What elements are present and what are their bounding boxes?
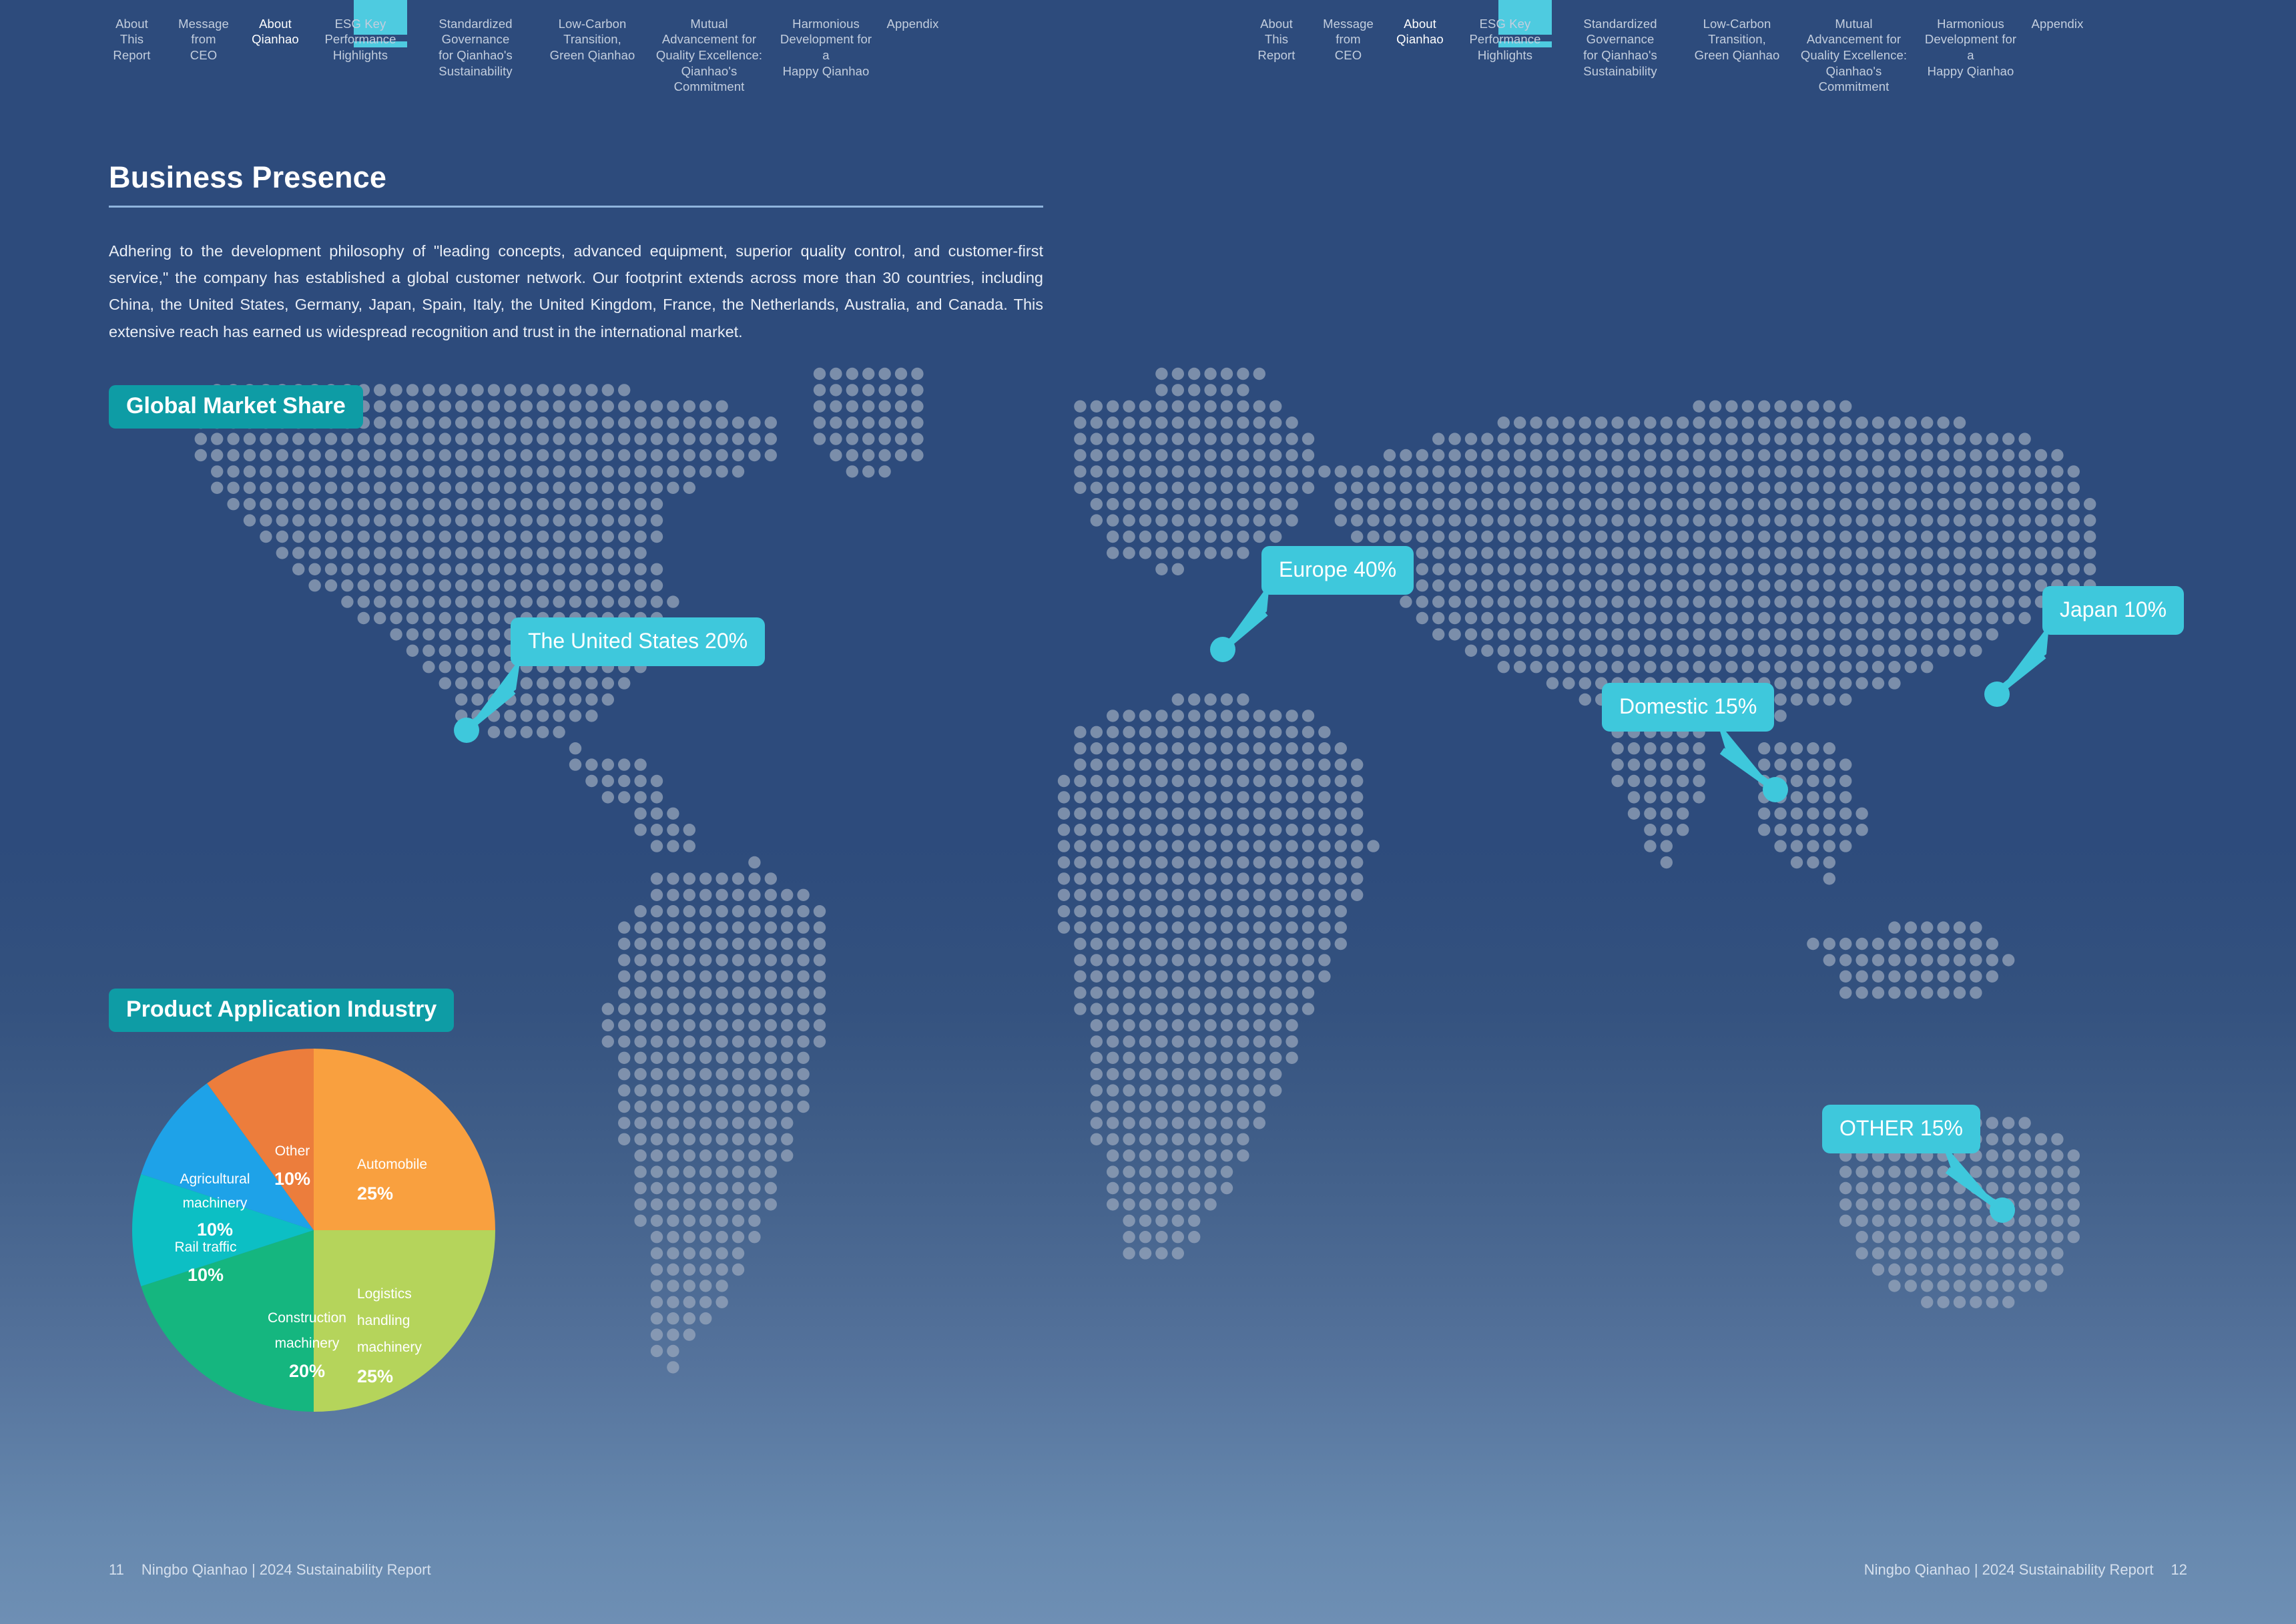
pie-slice-value: 10% (197, 1220, 233, 1240)
top-nav-left: About This Report Message from CEO About… (100, 0, 1068, 107)
pie-slice (314, 1049, 495, 1230)
pie-slice-group (132, 1049, 495, 1412)
footer-right: Ningbo Qianhao | 2024 Sustainability Rep… (1864, 1561, 2187, 1579)
nav-tab-mutual-advancement[interactable]: Mutual Advancement for Quality Excellenc… (1792, 16, 1916, 95)
product-application-pie-chart: Automobile25%Logisticshandlingmachinery2… (127, 1043, 501, 1417)
page-title: Business Presence (109, 160, 1043, 195)
report-spread: About This Report Message from CEO About… (0, 0, 2296, 1624)
heading-block: Business Presence (109, 160, 1043, 208)
nav-tab-standardized-governance[interactable]: Standardized Governance for Qianhao's Su… (1558, 16, 1682, 79)
nav-tab-appendix[interactable]: Appendix (881, 16, 944, 32)
callout-domestic[interactable]: Domestic 15% (1602, 683, 1774, 732)
pie-slice-label: Other (275, 1143, 310, 1159)
top-nav-right: About This Report Message from CEO About… (1245, 0, 2213, 107)
callout-japan[interactable]: Japan 10% (2042, 586, 2184, 635)
title-underline-rule (109, 206, 1043, 208)
nav-tab-about-qianhao[interactable]: About Qianhao (244, 16, 307, 47)
footer-left-text: Ningbo Qianhao | 2024 Sustainability Rep… (141, 1561, 431, 1579)
nav-tab-about-this-report[interactable]: About This Report (100, 16, 164, 63)
footer-right-page-number: 12 (2171, 1561, 2187, 1579)
badge-product-application-industry: Product Application Industry (109, 989, 454, 1032)
nav-tab-esg-key-performance[interactable]: ESG Key Performance Highlights (307, 16, 414, 63)
nav-tab-harmonious-development[interactable]: Harmonious Development for a Happy Qianh… (771, 16, 881, 79)
footer-left-page-number: 11 (109, 1561, 124, 1579)
footer-right-text: Ningbo Qianhao | 2024 Sustainability Rep… (1864, 1561, 2154, 1579)
nav-tab-esg-key-performance[interactable]: ESG Key Performance Highlights (1452, 16, 1558, 63)
nav-tab-low-carbon-transition[interactable]: Low-Carbon Transition, Green Qianhao (537, 16, 647, 63)
callout-europe[interactable]: Europe 40% (1261, 546, 1414, 595)
pie-slice-value: 25% (357, 1366, 393, 1386)
pie-slice-label: Automobile (357, 1157, 427, 1172)
pie-slice-value: 20% (289, 1361, 325, 1381)
nav-tab-list-left: About This Report Message from CEO About… (100, 16, 1068, 95)
callout-united-states[interactable]: The United States 20% (511, 617, 765, 666)
pie-slice-label: Rail traffic (175, 1240, 237, 1255)
nav-tab-about-qianhao[interactable]: About Qianhao (1388, 16, 1452, 47)
intro-paragraph: Adhering to the development philosophy o… (109, 238, 1043, 346)
pie-slice-value: 10% (188, 1265, 224, 1285)
pie-slice-value: 10% (274, 1169, 310, 1189)
nav-tab-list-right: About This Report Message from CEO About… (1245, 16, 2213, 95)
nav-tab-about-this-report[interactable]: About This Report (1245, 16, 1308, 63)
pie-slice-value: 25% (357, 1183, 393, 1203)
nav-tab-low-carbon-transition[interactable]: Low-Carbon Transition, Green Qianhao (1682, 16, 1792, 63)
callout-other[interactable]: OTHER 15% (1822, 1105, 1980, 1153)
nav-tab-message-from-ceo[interactable]: Message from CEO (164, 16, 244, 63)
nav-tab-appendix[interactable]: Appendix (2026, 16, 2089, 32)
nav-tab-harmonious-development[interactable]: Harmonious Development for a Happy Qianh… (1916, 16, 2026, 79)
footer-left: 11 Ningbo Qianhao | 2024 Sustainability … (109, 1561, 431, 1579)
nav-tab-message-from-ceo[interactable]: Message from CEO (1308, 16, 1388, 63)
nav-tab-standardized-governance[interactable]: Standardized Governance for Qianhao's Su… (414, 16, 537, 79)
badge-global-market-share: Global Market Share (109, 385, 363, 429)
nav-tab-mutual-advancement[interactable]: Mutual Advancement for Quality Excellenc… (647, 16, 771, 95)
